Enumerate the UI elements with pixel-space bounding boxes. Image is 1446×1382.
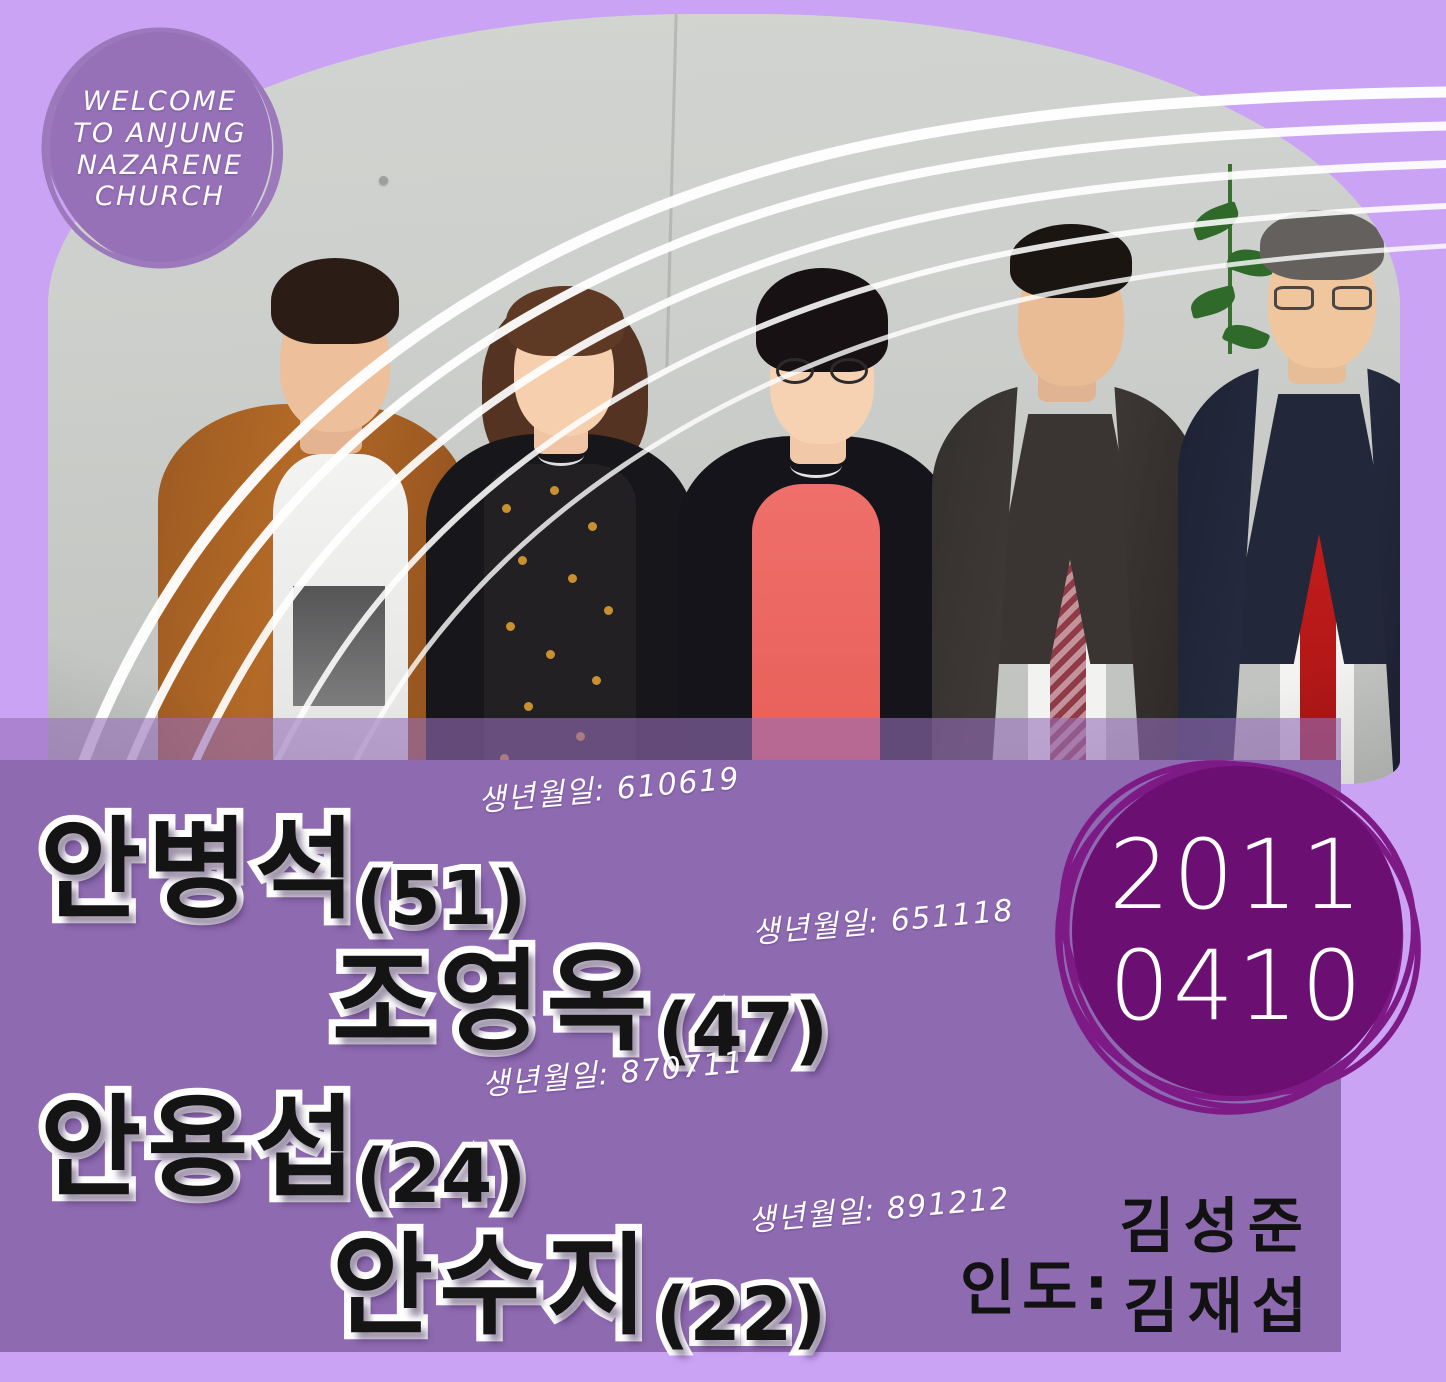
member-age: (22) [656, 1272, 827, 1358]
necklace [790, 452, 842, 478]
guide-block: 김성준 인도: 김재섭 [960, 1178, 1330, 1318]
member-name: 안병석 [40, 780, 362, 940]
glasses-icon [1274, 286, 1372, 310]
necklace [538, 444, 584, 466]
person-hair [1010, 224, 1132, 298]
guide-name-bottom: 김재섭 [1123, 1258, 1316, 1345]
guide-name-top: 김성준 [1119, 1178, 1312, 1265]
date-year: 2011 [1109, 820, 1365, 931]
date-monthday: 0410 [1109, 931, 1365, 1042]
welcome-line-2: TO ANJUNG [73, 120, 247, 149]
member-name: 안수지 [332, 1196, 654, 1356]
welcome-line-4: CHURCH [95, 183, 225, 212]
person-hair [756, 268, 888, 372]
person-hair [1260, 210, 1384, 280]
person-hair [271, 258, 399, 344]
person-figure [1188, 144, 1400, 784]
guide-label: 인도: [960, 1240, 1115, 1327]
welcome-badge: WELCOME TO ANJUNG NAZARENE CHURCH [32, 22, 288, 278]
member-name: 안용섭 [40, 1058, 362, 1218]
church-welcome-card: WELCOME TO ANJUNG NAZARENE CHURCH 안병석(51… [0, 0, 1446, 1382]
person-figure [426, 224, 694, 784]
person-hair [506, 286, 624, 356]
welcome-line-1: WELCOME [83, 88, 238, 117]
person-figure [678, 224, 954, 784]
welcome-badge-text: WELCOME TO ANJUNG NAZARENE CHURCH [32, 22, 288, 278]
member-name: 조영옥 [332, 912, 654, 1072]
welcome-line-3: NAZARENE [77, 152, 243, 181]
date-badge-text: 2011 0410 [1072, 766, 1402, 1096]
shirt-print [293, 586, 385, 706]
date-badge: 2011 0410 [1032, 748, 1432, 1120]
person-figure [932, 164, 1200, 784]
glasses-icon [776, 358, 868, 384]
